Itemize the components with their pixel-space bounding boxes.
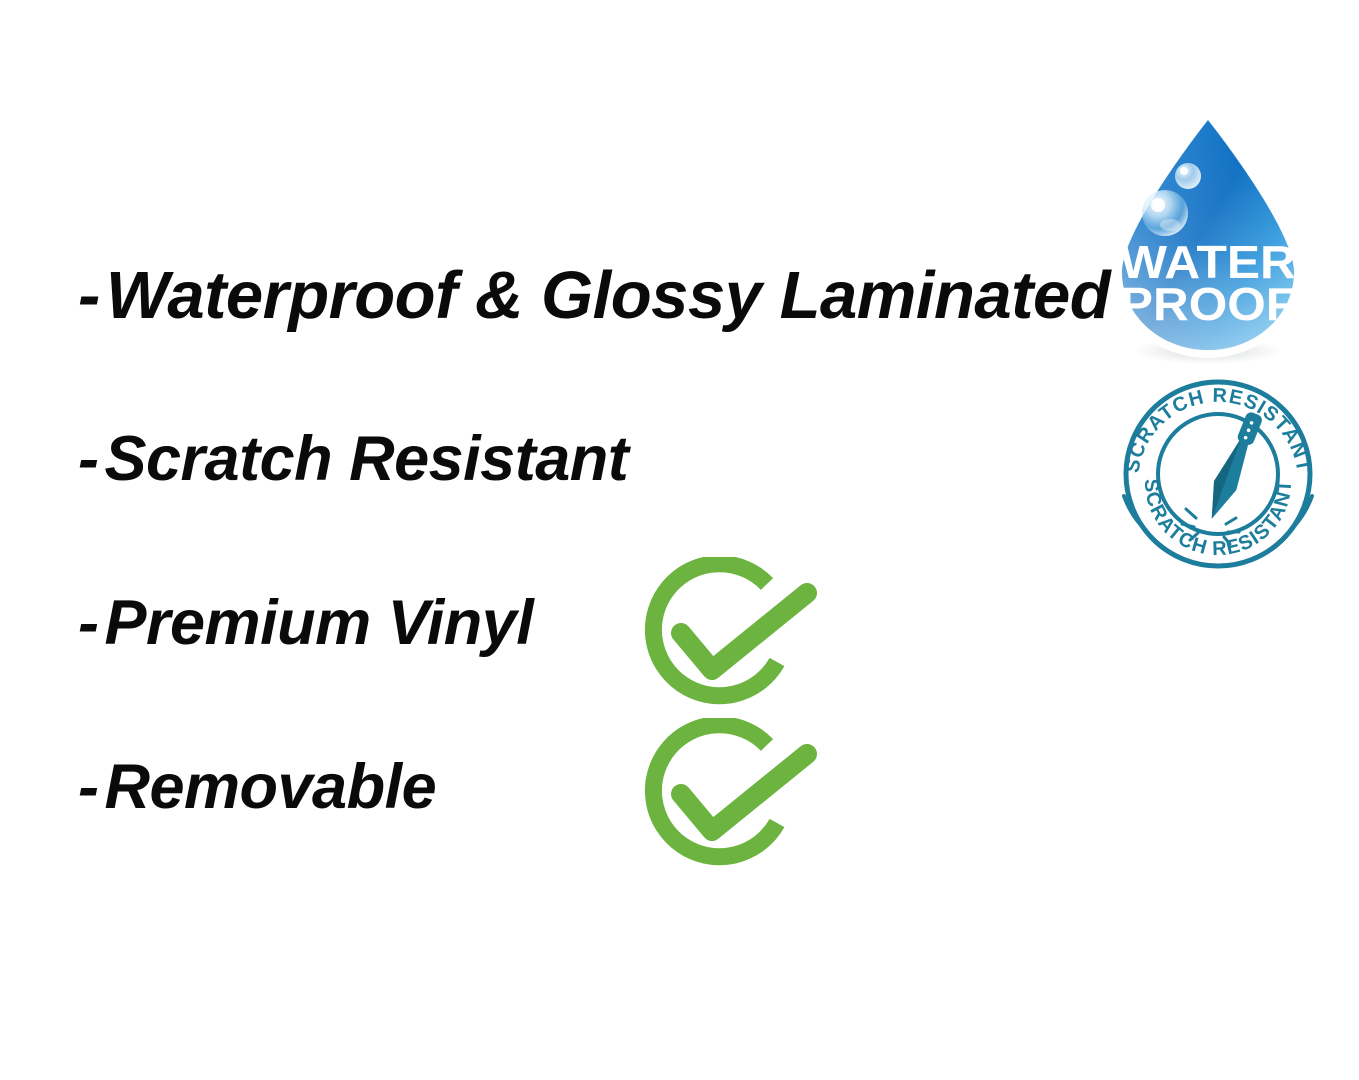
feature-bullet-dash: - <box>78 752 98 822</box>
feature-bullet-dash: - <box>78 588 98 658</box>
feature-label: Waterproof & Glossy Laminated <box>106 258 1110 333</box>
stamp-inner-ring <box>1158 414 1278 534</box>
waterproof-line2: PROOF <box>1120 278 1296 330</box>
green-check-badge <box>641 557 827 723</box>
feature-line-waterproof: -Waterproof & Glossy Laminated <box>78 262 1110 329</box>
stamp-text-top: SCRATCH RESISTANT <box>1121 385 1314 475</box>
green-check-badge <box>641 718 827 884</box>
bubble-small-highlight <box>1180 167 1188 175</box>
product-feature-graphic: -Waterproof & Glossy Laminated -Scratch … <box>0 0 1359 1080</box>
feature-label: Premium Vinyl <box>104 588 533 658</box>
waterproof-drop-badge: WATER PROOF <box>1102 108 1314 364</box>
check-mark-icon <box>681 754 807 831</box>
feature-label: Scratch Resistant <box>104 424 628 494</box>
check-mark-icon <box>681 593 807 670</box>
bubble-large-highlight <box>1151 198 1165 212</box>
knife-blade <box>1201 435 1255 524</box>
feature-bullet-dash: - <box>78 258 100 333</box>
feature-bullet-dash: - <box>78 424 98 494</box>
stamp-text-top-path: SCRATCH RESISTANT <box>1121 385 1314 475</box>
feature-line-premium-vinyl: -Premium Vinyl <box>78 592 533 655</box>
bubble-small-icon <box>1175 163 1201 189</box>
feature-label: Removable <box>104 752 436 822</box>
scratch-resistant-stamp: SCRATCH RESISTANT SCRATCH RESISTANT <box>1110 378 1326 570</box>
knife-icon <box>1201 409 1266 524</box>
bubble-large-lowlight <box>1160 219 1180 231</box>
feature-line-removable: -Removable <box>78 756 436 819</box>
feature-line-scratch-resistant: -Scratch Resistant <box>78 428 628 491</box>
